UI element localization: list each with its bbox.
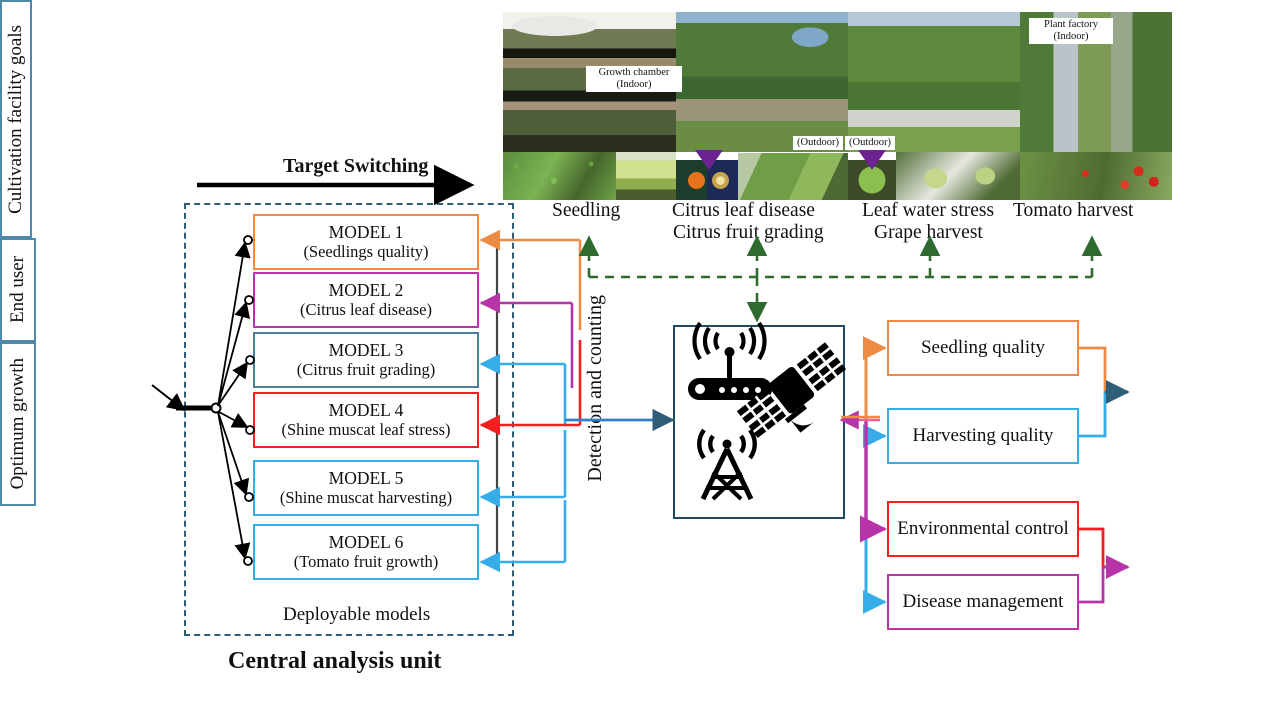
- model-subtitle: (Shine muscat harvesting): [280, 489, 452, 507]
- caption-line1: Citrus leaf disease: [672, 200, 815, 221]
- caption-grape-line2: Grape harvest: [874, 222, 983, 244]
- caption-grape-line1: Leaf water stress: [862, 200, 994, 222]
- model-title: MODEL 4: [329, 401, 404, 421]
- cultivation-facility-goals-label: Cultivation facility goals: [5, 25, 27, 214]
- model-box-6[interactable]: MODEL 6 (Tomato fruit growth): [253, 524, 479, 580]
- model-title: MODEL 2: [329, 281, 404, 301]
- target-switching-label: Target Switching: [283, 155, 428, 178]
- caption-tomato: Tomato harvest: [1013, 200, 1133, 222]
- caption-citrus-line2: Citrus fruit grading: [673, 222, 824, 244]
- green-sensing-bus: [589, 238, 1092, 320]
- photo-grape-harvest-closeup: [896, 152, 1020, 200]
- model-title: MODEL 1: [329, 223, 404, 243]
- model-subtitle: (Seedlings quality): [303, 243, 428, 261]
- citrus-graded-sample-icon: [712, 172, 729, 189]
- caption-citrus-line1: Citrus leaf disease: [672, 200, 815, 222]
- photo-seedling-closeup-left: [503, 152, 616, 200]
- output-box-environmental-control[interactable]: Environmental control: [887, 501, 1079, 557]
- photo-citrus-orchard-scene: [676, 12, 848, 152]
- photo-grape-leaf-inset: [848, 160, 896, 200]
- output-label: Seedling quality: [921, 337, 1045, 358]
- gateway-box[interactable]: [673, 325, 845, 519]
- caption-line1: Leaf water stress: [862, 200, 994, 221]
- gateway-to-outputs-bus: [841, 348, 885, 602]
- photo-tag-line2: (Indoor): [590, 79, 678, 91]
- model-title: MODEL 3: [329, 341, 404, 361]
- photo-tag-plant-factory: Plant factory (Indoor): [1029, 18, 1113, 44]
- model-subtitle: (Shine muscat leaf stress): [281, 421, 450, 439]
- photo-tag-line2: (Indoor): [1033, 31, 1109, 43]
- model-subtitle: (Tomato fruit growth): [294, 553, 439, 571]
- model-subtitle: (Citrus leaf disease): [300, 301, 432, 319]
- output-label: Harvesting quality: [913, 425, 1054, 446]
- goals-to-switch-arrow: [152, 385, 184, 410]
- photo-seedling-closeup-right: [616, 152, 676, 200]
- caption-line1: Seedling: [552, 200, 620, 221]
- output-label: Environmental control: [897, 518, 1068, 539]
- photo-tag-line1: (Outdoor): [849, 137, 891, 149]
- output-box-harvesting-quality[interactable]: Harvesting quality: [887, 408, 1079, 464]
- photo-tag-line1: Growth chamber: [590, 67, 678, 79]
- photo-tag-line1: Plant factory: [1033, 19, 1109, 31]
- detection-and-counting-label: Detection and counting: [584, 295, 607, 482]
- model-box-4[interactable]: MODEL 4 (Shine muscat leaf stress): [253, 392, 479, 448]
- caption-seedling: Seedling: [552, 200, 620, 222]
- cultivation-facility-goals-box: Cultivation facility goals: [0, 0, 32, 238]
- caption-line2: Grape harvest: [874, 222, 983, 243]
- diagram-canvas: Growth chamber (Indoor) (Outdoor) (Outdo…: [0, 0, 1280, 720]
- outputs-to-end-user: [1079, 348, 1128, 436]
- deployable-models-label: Deployable models: [283, 604, 430, 626]
- photo-citrus-leaf-closeup: [738, 153, 848, 200]
- photo-tag-citrus-outdoor: (Outdoor): [793, 136, 843, 150]
- consumer-label: Optimum growth: [7, 358, 29, 489]
- output-box-seedling-quality[interactable]: Seedling quality: [887, 320, 1079, 376]
- photo-tag-line1: (Outdoor): [797, 137, 839, 149]
- citrus-orange-sample-icon: [688, 172, 705, 189]
- consumer-box-optimum-growth[interactable]: Optimum growth: [0, 342, 36, 506]
- page-title: Central analysis unit: [228, 648, 441, 675]
- model-title: MODEL 5: [329, 469, 404, 489]
- consumer-label: End user: [7, 256, 29, 323]
- photo-tomato-harvest-closeup: [1020, 152, 1172, 200]
- photo-tag-grape-outdoor: (Outdoor): [845, 136, 895, 150]
- consumer-box-end-user[interactable]: End user: [0, 238, 36, 342]
- outputs-to-optimum-growth: [1079, 529, 1128, 602]
- model-subtitle: (Citrus fruit grading): [297, 361, 435, 379]
- model-box-5[interactable]: MODEL 5 (Shine muscat harvesting): [253, 460, 479, 516]
- photo-grape-vineyard-scene: [848, 12, 1020, 152]
- model-title: MODEL 6: [329, 533, 404, 553]
- model-box-1[interactable]: MODEL 1 (Seedlings quality): [253, 214, 479, 270]
- caption-line1: Tomato harvest: [1013, 200, 1133, 221]
- caption-line2: Citrus fruit grading: [673, 222, 824, 243]
- model-box-3[interactable]: MODEL 3 (Citrus fruit grading): [253, 332, 479, 388]
- output-box-disease-management[interactable]: Disease management: [887, 574, 1079, 630]
- output-label: Disease management: [903, 591, 1064, 612]
- model-box-2[interactable]: MODEL 2 (Citrus leaf disease): [253, 272, 479, 328]
- photo-tag-growth-chamber: Growth chamber (Indoor): [586, 66, 682, 92]
